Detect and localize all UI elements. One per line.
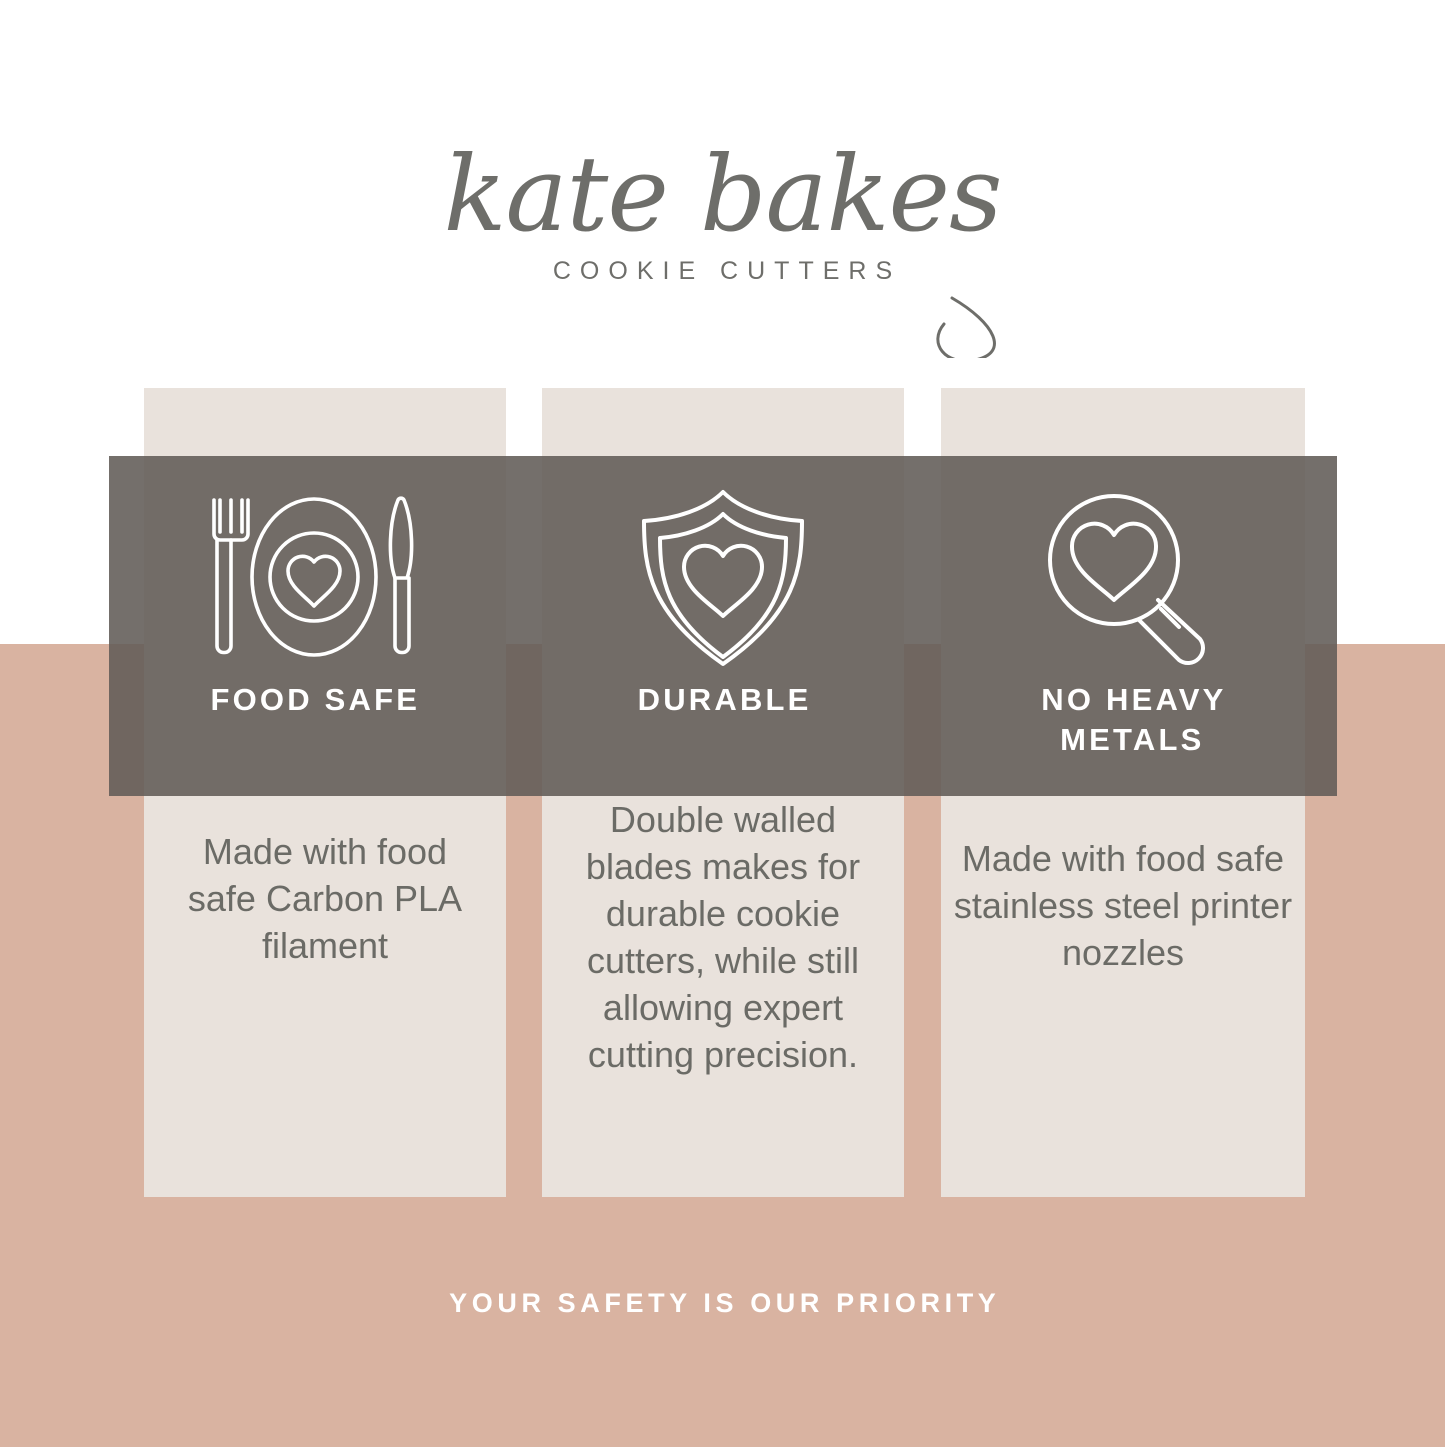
feature-body-food-safe: Made with food safe Carbon PLA filament (144, 828, 506, 969)
feature-label-food-safe: FOOD SAFE (207, 680, 420, 720)
brand-subtitle: COOKIE CUTTERS (0, 256, 1445, 286)
feature-label-no-heavy-metals: NO HEAVY METALS (1038, 680, 1226, 760)
feature-body-no-heavy-metals: Made with food safe stainless steel prin… (941, 835, 1305, 976)
infographic-canvas: kate bakes COOKIE CUTTERS Made with food… (0, 0, 1445, 1447)
feature-food-safe: FOOD SAFE (109, 456, 518, 796)
feature-label-line-2: METALS (1060, 722, 1204, 757)
feature-label-line-1: NO HEAVY (1041, 682, 1226, 717)
plate-heart-fork-knife-icon (208, 494, 420, 662)
feature-body-durable: Double walled blades makes for durable c… (542, 796, 904, 1078)
feature-label-durable: DURABLE (634, 680, 811, 720)
feature-durable: DURABLE (518, 456, 927, 796)
magnifier-heart-icon (1042, 494, 1222, 662)
brand-logo: kate bakes COOKIE CUTTERS (0, 138, 1445, 358)
footer-tagline: YOUR SAFETY IS OUR PRIORITY (0, 1286, 1445, 1320)
shield-heart-icon (636, 494, 810, 662)
feature-icon-band: FOOD SAFE DURABLE (109, 456, 1337, 796)
feature-no-heavy-metals: NO HEAVY METALS (928, 456, 1337, 796)
brand-script-name: kate bakes (0, 138, 1445, 250)
